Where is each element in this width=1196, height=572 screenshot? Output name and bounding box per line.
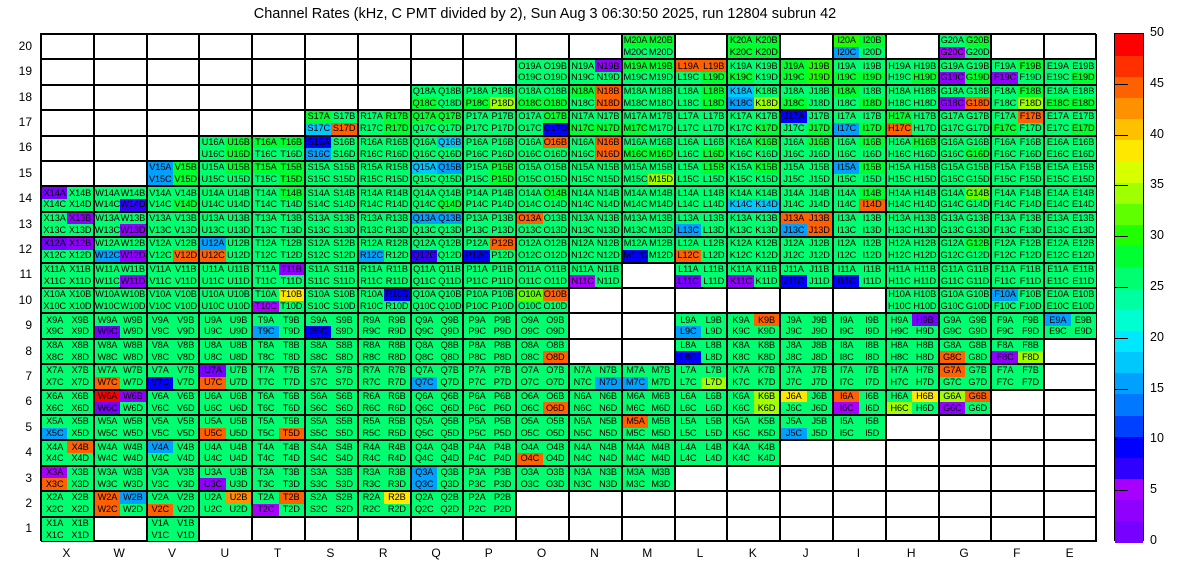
- heatmap-subcell: N5B: [595, 416, 620, 428]
- heatmap-subrow: J17CJ17D: [781, 123, 832, 135]
- heatmap-subcell: S5A: [306, 416, 331, 428]
- heatmap-subcell: P16D: [490, 148, 515, 160]
- heatmap-cell: V13AV13BV13CV13D: [147, 212, 200, 237]
- heatmap-subcell: L11B: [701, 264, 726, 276]
- heatmap-subrow: R17CR17D: [359, 123, 410, 135]
- heatmap-subcell: T7B: [279, 365, 304, 377]
- heatmap-subcell: S2B: [331, 492, 356, 504]
- heatmap-subrow: U16AU16B: [200, 137, 251, 149]
- heatmap-subcell: U4D: [226, 453, 251, 465]
- heatmap-subrow: U4CU4D: [200, 453, 251, 465]
- heatmap-subcell: P17B: [490, 111, 515, 123]
- heatmap-subcell: N18A: [570, 86, 595, 98]
- heatmap-subcell: S11A: [306, 264, 331, 276]
- heatmap-subcell: G20A: [940, 35, 965, 47]
- heatmap-subrow: K9AK9B: [728, 314, 779, 326]
- heatmap-cell: H12AH12BH12CH12D: [886, 237, 939, 262]
- heatmap-subcell: K15A: [728, 162, 753, 174]
- heatmap-cell: S13AS13BS13CS13D: [305, 212, 358, 237]
- heatmap-subcell: W9B: [120, 314, 145, 326]
- heatmap-cell-empty: [516, 491, 569, 516]
- heatmap-subrow: O3AO3B: [517, 467, 568, 479]
- colorbar-tick-label: 25: [1150, 279, 1164, 293]
- heatmap-subcell: T9C: [253, 326, 278, 338]
- heatmap-cell-empty: [939, 415, 992, 440]
- heatmap-subrow: K17AK17B: [728, 111, 779, 123]
- heatmap-subrow: O3CO3D: [517, 478, 568, 490]
- heatmap-cell: N6AN6BN6CN6D: [569, 390, 622, 415]
- heatmap-subcell: H9D: [912, 326, 937, 338]
- heatmap-subcell: P11A: [464, 264, 489, 276]
- heatmap-subcell: L12D: [701, 250, 726, 262]
- heatmap-subrow: E19CE19D: [1045, 72, 1096, 84]
- heatmap-subcell: L18A: [676, 86, 701, 98]
- heatmap-subrow: W5AW5B: [95, 416, 146, 428]
- heatmap-subcell: S14D: [331, 199, 356, 211]
- heatmap-subrow: E16AE16B: [1045, 137, 1096, 149]
- heatmap-subrow: T4AT4B: [253, 441, 304, 453]
- heatmap-cell: W2AW2BW2CW2D: [94, 491, 147, 516]
- heatmap-subrow: R16AR16B: [359, 137, 410, 149]
- heatmap-subrow: Q8AQ8B: [412, 340, 463, 352]
- heatmap-cell: J11AJ11BJ11CJ11D: [780, 263, 833, 288]
- heatmap-subrow: T14AT14B: [253, 187, 304, 199]
- heatmap-subcell: Q15A: [412, 162, 437, 174]
- heatmap-subcell: T2A: [253, 492, 278, 504]
- heatmap-subrow: X13CX13D: [42, 224, 93, 236]
- heatmap-subcell: G9D: [965, 326, 990, 338]
- heatmap-subcell: G20C: [940, 47, 965, 59]
- heatmap-cell-empty: [252, 517, 305, 542]
- heatmap-subrow: F14CF14D: [992, 199, 1043, 211]
- heatmap-subrow: P16AP16B: [464, 137, 515, 149]
- heatmap-subcell: O10B: [543, 289, 568, 301]
- heatmap-cell: G16AG16BG16CG16D: [939, 136, 992, 161]
- heatmap-subcell: M4D: [648, 453, 673, 465]
- heatmap-cell: P10AP10BP10CP10D: [463, 288, 516, 313]
- heatmap-subrow: K19AK19B: [728, 60, 779, 72]
- heatmap-cell-empty: [886, 466, 939, 491]
- heatmap-subcell: K12A: [728, 238, 753, 250]
- heatmap-subcell: R14B: [384, 187, 409, 199]
- heatmap-subcell: E9A: [1045, 314, 1070, 326]
- heatmap-subcell: V15A: [148, 162, 173, 174]
- heatmap-subcell: M18D: [648, 97, 673, 109]
- heatmap-cell: H8AH8BH8CH8D: [886, 339, 939, 364]
- heatmap-cell-empty: [991, 440, 1044, 465]
- heatmap-subcell: F16C: [992, 148, 1017, 160]
- heatmap-subcell: G7C: [940, 377, 965, 389]
- colorbar-tick: [1114, 84, 1128, 85]
- heatmap-subrow: F11CF11D: [992, 275, 1043, 287]
- heatmap-subcell: Q11D: [437, 275, 462, 287]
- heatmap-subrow: U7CU7D: [200, 377, 251, 389]
- heatmap-subcell: I8B: [859, 340, 884, 352]
- heatmap-subrow: U6CU6D: [200, 402, 251, 414]
- heatmap-subcell: S10D: [331, 301, 356, 313]
- heatmap-cell: F8AF8BF8CF8D: [991, 339, 1044, 364]
- heatmap-subcell: X4D: [67, 453, 92, 465]
- heatmap-subcell: H7D: [912, 377, 937, 389]
- heatmap-cell: F10AF10BF10CF10D: [991, 288, 1044, 313]
- heatmap-subcell: I15A: [834, 162, 859, 174]
- heatmap-cell-empty: [991, 517, 1044, 542]
- heatmap-subcell: T7D: [279, 377, 304, 389]
- heatmap-subcell: F9D: [1018, 326, 1043, 338]
- heatmap-subrow: F13CF13D: [992, 224, 1043, 236]
- heatmap-subrow: G6AG6B: [940, 391, 991, 403]
- heatmap-subcell: K8B: [754, 340, 779, 352]
- heatmap-subrow: K15AK15B: [728, 162, 779, 174]
- heatmap-cell: W13AW13BW13CW13D: [94, 212, 147, 237]
- heatmap-subrow: O13CO13D: [517, 224, 568, 236]
- heatmap-subrow: E14AE14B: [1045, 187, 1096, 199]
- heatmap-cell: H16AH16BH16CH16D: [886, 136, 939, 161]
- heatmap-subrow: W14CW14D: [95, 199, 146, 211]
- heatmap-subcell: S9B: [331, 314, 356, 326]
- heatmap-cell: J13AJ13BJ13CJ13D: [780, 212, 833, 237]
- heatmap-subrow: F12CF12D: [992, 250, 1043, 262]
- heatmap-subcell: M7D: [648, 377, 673, 389]
- heatmap-subcell: S2D: [331, 504, 356, 516]
- heatmap-subcell: L19D: [701, 72, 726, 84]
- heatmap-subcell: K16A: [728, 137, 753, 149]
- heatmap-cell: I6AI6BI6CI6D: [833, 390, 886, 415]
- heatmap-subrow: O7AO7B: [517, 365, 568, 377]
- heatmap-subcell: N6A: [570, 391, 595, 403]
- heatmap-cell-empty: [199, 517, 252, 542]
- heatmap-subcell: E13C: [1045, 224, 1070, 236]
- heatmap-subcell: T8B: [279, 340, 304, 352]
- heatmap-cell: U12AU12BU12CU12D: [199, 237, 252, 262]
- x-axis-label: F: [990, 546, 1043, 560]
- heatmap-subcell: N19B: [595, 60, 620, 72]
- heatmap-subcell: S3A: [306, 467, 331, 479]
- heatmap-subcell: I14A: [834, 187, 859, 199]
- heatmap-subcell: L11C: [676, 275, 701, 287]
- channel-rates-plot: Channel Rates (kHz, C PMT divided by 2),…: [0, 0, 1196, 572]
- heatmap-cell: O12AO12BO12CO12D: [516, 237, 569, 262]
- heatmap-subrow: M6AM6B: [623, 391, 674, 403]
- heatmap-subcell: Q13A: [412, 213, 437, 225]
- heatmap-subcell: I6B: [859, 391, 884, 403]
- heatmap-subrow: N18AN18B: [570, 86, 621, 98]
- heatmap-subrow: M17AM17B: [623, 111, 674, 123]
- heatmap-subcell: G20B: [965, 35, 990, 47]
- heatmap-subrow: N16AN16B: [570, 137, 621, 149]
- heatmap-subcell: E12C: [1045, 250, 1070, 262]
- heatmap-subcell: Q7D: [437, 377, 462, 389]
- heatmap-subrow: Q2CQ2D: [412, 504, 463, 516]
- heatmap-subcell: H16B: [912, 137, 937, 149]
- heatmap-cell: K19AK19BK19CK19D: [727, 59, 780, 84]
- heatmap-subcell: U15A: [200, 162, 225, 174]
- heatmap-subcell: H12C: [887, 250, 912, 262]
- heatmap-subcell: X11A: [42, 264, 67, 276]
- heatmap-subcell: F10C: [992, 301, 1017, 313]
- heatmap-subrow: I12CI12D: [834, 250, 885, 262]
- heatmap-subcell: U12A: [200, 238, 225, 250]
- heatmap-subrow: N13AN13B: [570, 213, 621, 225]
- heatmap-subrow: S13CS13D: [306, 224, 357, 236]
- heatmap-subcell: W10D: [120, 301, 145, 313]
- colorbar-tick-label: 40: [1150, 127, 1164, 141]
- heatmap-subcell: P8A: [464, 340, 489, 352]
- heatmap-subrow: R3CR3D: [359, 478, 410, 490]
- y-axis-label: 5: [4, 420, 32, 434]
- heatmap-subcell: M17A: [623, 111, 648, 123]
- heatmap-subcell: X12D: [67, 250, 92, 262]
- heatmap-subrow: U12AU12B: [200, 238, 251, 250]
- heatmap-subcell: S15D: [331, 174, 356, 186]
- heatmap-subcell: W5A: [95, 416, 120, 428]
- heatmap-subcell: U7A: [200, 365, 225, 377]
- heatmap-cell-empty: [991, 390, 1044, 415]
- heatmap-subcell: E15A: [1045, 162, 1070, 174]
- heatmap-cell: I20AI20BI20CI20D: [833, 34, 886, 59]
- heatmap-subrow: V1CV1D: [148, 529, 199, 541]
- heatmap-cell: P14AP14BP14CP14D: [463, 186, 516, 211]
- heatmap-subcell: L5D: [701, 428, 726, 440]
- heatmap-subcell: V5C: [148, 428, 173, 440]
- heatmap-cell-empty: [675, 466, 728, 491]
- heatmap-subcell: T10D: [279, 301, 304, 313]
- heatmap-subcell: S17A: [306, 111, 331, 123]
- heatmap-subrow: J16AJ16B: [781, 137, 832, 149]
- heatmap-subcell: Q16A: [412, 137, 437, 149]
- heatmap-subrow: G20AG20B: [940, 35, 991, 47]
- heatmap-cell-empty: [41, 34, 94, 59]
- heatmap-subrow: I19AI19B: [834, 60, 885, 72]
- heatmap-subcell: F7C: [992, 377, 1017, 389]
- heatmap-subcell: K8A: [728, 340, 753, 352]
- heatmap-subcell: O15D: [543, 174, 568, 186]
- heatmap-subrow: E11CE11D: [1045, 275, 1096, 287]
- heatmap-cell: I17AI17BI17CI17D: [833, 110, 886, 135]
- heatmap-subcell: O19B: [543, 60, 568, 72]
- heatmap-subrow: O12AO12B: [517, 238, 568, 250]
- colorbar-tick: [1114, 439, 1128, 440]
- heatmap-subrow: W6AW6B: [95, 391, 146, 403]
- heatmap-cell: F17AF17BF17CF17D: [991, 110, 1044, 135]
- heatmap-cell: Q18AQ18BQ18CQ18D: [411, 85, 464, 110]
- heatmap-subrow: O18AO18B: [517, 86, 568, 98]
- x-axis-label: P: [462, 546, 515, 560]
- heatmap-subcell: W12C: [95, 250, 120, 262]
- heatmap-subrow: O8AO8B: [517, 340, 568, 352]
- heatmap-cell: R2AR2BR2CR2D: [358, 491, 411, 516]
- heatmap-cell: E13AE13BE13CE13D: [1044, 212, 1097, 237]
- heatmap-subcell: U15D: [226, 174, 251, 186]
- heatmap-subcell: Q10C: [412, 301, 437, 313]
- heatmap-subrow: E18AE18B: [1045, 86, 1096, 98]
- heatmap-subcell: N17C: [570, 123, 595, 135]
- heatmap-subcell: S10A: [306, 289, 331, 301]
- heatmap-subcell: N6B: [595, 391, 620, 403]
- heatmap-subrow: I6AI6B: [834, 391, 885, 403]
- heatmap-subcell: Q2A: [412, 492, 437, 504]
- heatmap-subcell: F12A: [992, 238, 1017, 250]
- heatmap-subcell: N14B: [595, 187, 620, 199]
- heatmap-cell: I7AI7BI7CI7D: [833, 364, 886, 389]
- heatmap-subcell: U13B: [226, 213, 251, 225]
- heatmap-subrow: R4CR4D: [359, 453, 410, 465]
- heatmap-subcell: Q15B: [437, 162, 462, 174]
- heatmap-subcell: O5D: [543, 428, 568, 440]
- heatmap-subcell: P3C: [464, 478, 489, 490]
- heatmap-subcell: L9D: [701, 326, 726, 338]
- heatmap-subcell: M19A: [623, 60, 648, 72]
- heatmap-subcell: X14C: [42, 199, 67, 211]
- heatmap-subrow: Q5CQ5D: [412, 428, 463, 440]
- heatmap-cell: L8AL8BL8CL8D: [675, 339, 728, 364]
- heatmap-subcell: X12A: [42, 238, 67, 250]
- heatmap-subrow: O15CO15D: [517, 174, 568, 186]
- heatmap-subcell: P12C: [464, 250, 489, 262]
- heatmap-subcell: H16A: [887, 137, 912, 149]
- heatmap-subcell: R17A: [359, 111, 384, 123]
- heatmap-subcell: N3B: [595, 467, 620, 479]
- heatmap-subrow: W8AW8B: [95, 340, 146, 352]
- heatmap-subrow: J12CJ12D: [781, 250, 832, 262]
- heatmap-subcell: U11D: [226, 275, 251, 287]
- heatmap-subcell: J19D: [807, 72, 832, 84]
- colorbar-tick: [1114, 185, 1128, 186]
- heatmap-subcell: W6D: [120, 402, 145, 414]
- heatmap-subrow: S8AS8B: [306, 340, 357, 352]
- heatmap-subrow: S7CS7D: [306, 377, 357, 389]
- heatmap-subcell: P5D: [490, 428, 515, 440]
- heatmap-cell: X13AX13BX13CX13D: [41, 212, 94, 237]
- heatmap-subcell: S14A: [306, 187, 331, 199]
- heatmap-subrow: R12CR12D: [359, 250, 410, 262]
- heatmap-subcell: H6D: [912, 402, 937, 414]
- heatmap-subcell: V2A: [148, 492, 173, 504]
- heatmap-subrow: P8CP8D: [464, 351, 515, 363]
- heatmap-subrow: F7AF7B: [992, 365, 1043, 377]
- heatmap-subrow: L9AL9B: [676, 314, 727, 326]
- heatmap-subrow: P15AP15B: [464, 162, 515, 174]
- heatmap-subcell: G16B: [965, 137, 990, 149]
- heatmap-subrow: Q4CQ4D: [412, 453, 463, 465]
- heatmap-cell: N3AN3BN3CN3D: [569, 466, 622, 491]
- heatmap-subrow: N6CN6D: [570, 402, 621, 414]
- heatmap-subcell: O9D: [543, 326, 568, 338]
- heatmap-subcell: L5B: [701, 416, 726, 428]
- x-axis-label: L: [674, 546, 727, 560]
- heatmap-subrow: E9AE9B: [1045, 314, 1096, 326]
- heatmap-cell-empty: [780, 288, 833, 313]
- heatmap-subcell: S9C: [306, 326, 331, 338]
- heatmap-subrow: L14AL14B: [676, 187, 727, 199]
- heatmap-subcell: K15B: [754, 162, 779, 174]
- heatmap-subcell: W6A: [95, 391, 120, 403]
- heatmap-subcell: Q11A: [412, 264, 437, 276]
- heatmap-subrow: N18CN18D: [570, 97, 621, 109]
- heatmap-subcell: W4C: [95, 453, 120, 465]
- heatmap-subcell: G14D: [965, 199, 990, 211]
- heatmap-subcell: T7C: [253, 377, 278, 389]
- heatmap-subrow: H12AH12B: [887, 238, 938, 250]
- heatmap-subcell: E12A: [1045, 238, 1070, 250]
- heatmap-subcell: I12B: [859, 238, 884, 250]
- heatmap-subcell: O3D: [543, 478, 568, 490]
- heatmap-cell: I9AI9BI9CI9D: [833, 313, 886, 338]
- heatmap-subcell: E18A: [1045, 86, 1070, 98]
- heatmap-cell: O13AO13BO13CO13D: [516, 212, 569, 237]
- heatmap-subcell: H7C: [887, 377, 912, 389]
- colorbar-segment: [1115, 415, 1143, 437]
- heatmap-cell: H11AH11BH11CH11D: [886, 263, 939, 288]
- heatmap-cell: X1AX1BX1CX1D: [41, 517, 94, 542]
- heatmap-subcell: V5D: [173, 428, 198, 440]
- heatmap-subcell: J18D: [807, 97, 832, 109]
- heatmap-subcell: H19D: [912, 72, 937, 84]
- heatmap-subcell: I17B: [859, 111, 884, 123]
- heatmap-subcell: M13B: [648, 213, 673, 225]
- heatmap-subrow: L6AL6B: [676, 391, 727, 403]
- heatmap-subcell: R4B: [384, 441, 409, 453]
- heatmap-subrow: V8CV8D: [148, 351, 199, 363]
- heatmap-subcell: F11C: [992, 275, 1017, 287]
- heatmap-subrow: P13CP13D: [464, 224, 515, 236]
- heatmap-subrow: K16CK16D: [728, 148, 779, 160]
- heatmap-subcell: T16C: [253, 148, 278, 160]
- heatmap-subcell: H11B: [912, 264, 937, 276]
- heatmap-cell: N12AN12BN12CN12D: [569, 237, 622, 262]
- heatmap-subcell: R2C: [359, 504, 384, 516]
- heatmap-subcell: S6C: [306, 402, 331, 414]
- heatmap-subcell: I8C: [834, 351, 859, 363]
- heatmap-cell-empty: [1044, 517, 1097, 542]
- heatmap-cell-empty: [833, 288, 886, 313]
- heatmap-subcell: H12A: [887, 238, 912, 250]
- heatmap-subcell: L17C: [676, 123, 701, 135]
- heatmap-subcell: K12B: [754, 238, 779, 250]
- heatmap-subrow: R7CR7D: [359, 377, 410, 389]
- heatmap-cell-empty: [358, 517, 411, 542]
- heatmap-subrow: K20AK20B: [728, 35, 779, 47]
- heatmap-subcell: K5B: [754, 416, 779, 428]
- heatmap-subcell: K19D: [754, 72, 779, 84]
- heatmap-subcell: H11C: [887, 275, 912, 287]
- heatmap-subcell: F17A: [992, 111, 1017, 123]
- heatmap-subcell: V8A: [148, 340, 173, 352]
- heatmap-cell: G14AG14BG14CG14D: [939, 186, 992, 211]
- heatmap-subcell: M5A: [623, 416, 648, 428]
- heatmap-cell: I8AI8BI8CI8D: [833, 339, 886, 364]
- heatmap-subcell: U11A: [200, 264, 225, 276]
- heatmap-subrow: S2CS2D: [306, 504, 357, 516]
- y-axis-label: 3: [4, 471, 32, 485]
- heatmap-subrow: K4CK4D: [728, 453, 779, 465]
- heatmap-subcell: E15D: [1071, 174, 1096, 186]
- heatmap-subrow: I9CI9D: [834, 326, 885, 338]
- y-axis-label: 6: [4, 394, 32, 408]
- heatmap-cell-empty: [147, 136, 200, 161]
- heatmap-cell: V5AV5BV5CV5D: [147, 415, 200, 440]
- heatmap-subcell: I13D: [859, 224, 884, 236]
- heatmap-subcell: J6D: [807, 402, 832, 414]
- heatmap-subrow: M5CM5D: [623, 428, 674, 440]
- colorbar-segment: [1115, 161, 1143, 183]
- heatmap-subcell: K6A: [728, 391, 753, 403]
- heatmap-subcell: E9D: [1071, 326, 1096, 338]
- heatmap-subcell: G10D: [965, 301, 990, 313]
- heatmap-cell: L11AL11BL11CL11D: [675, 263, 728, 288]
- heatmap-subrow: E15AE15B: [1045, 162, 1096, 174]
- heatmap-subcell: L4C: [676, 453, 701, 465]
